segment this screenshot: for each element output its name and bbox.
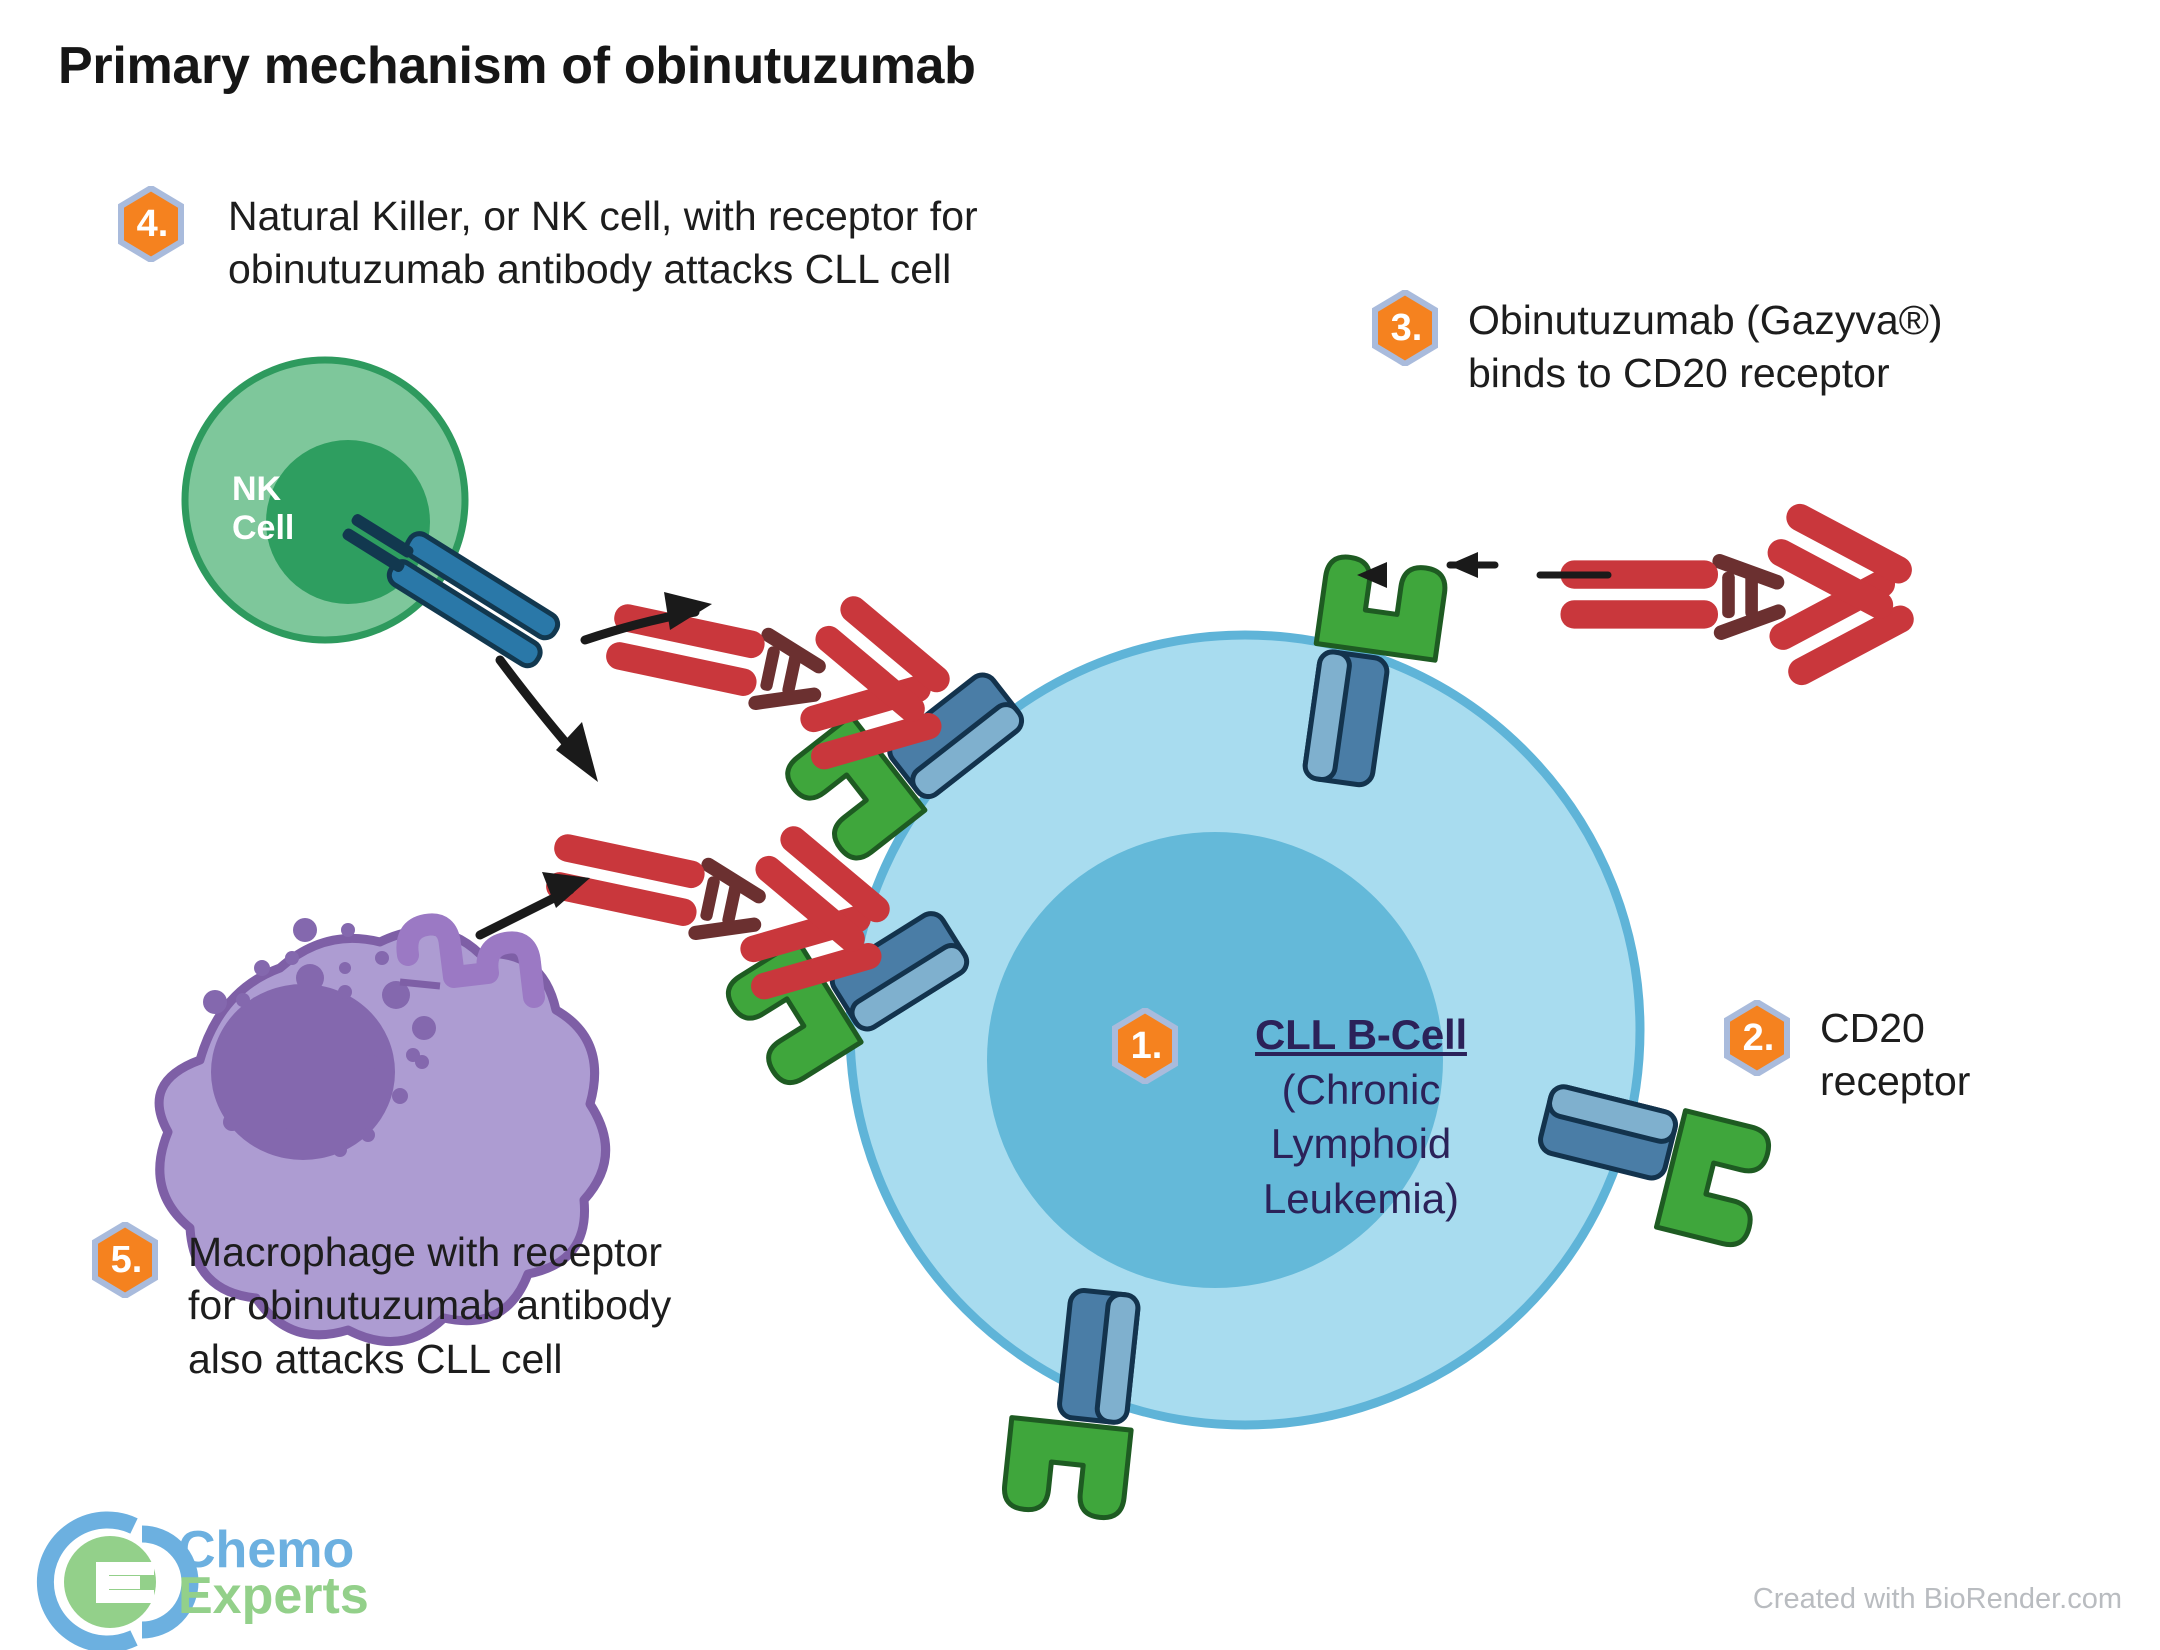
page-title: Primary mechanism of obinutuzumab — [58, 36, 976, 96]
step-badge-1[interactable]: 1. — [1112, 1008, 1178, 1084]
step-4-line-1: Natural Killer, or NK cell, with recepto… — [228, 190, 1298, 243]
step-number-5: 5. — [108, 1241, 143, 1279]
macrophage-attack-arrow — [480, 872, 590, 935]
chemoexperts-logo-icon — [45, 1520, 190, 1644]
step-2-line-1: CD20 — [1820, 1002, 2140, 1055]
step-text-3: Obinutuzumab (Gazyva®) binds to CD20 rec… — [1468, 294, 2160, 401]
step-5-line-1: Macrophage with receptor — [188, 1226, 888, 1279]
obinutuzumab-antibody-free — [1561, 499, 1919, 690]
nk-cell-label: NK Cell — [232, 470, 294, 548]
step-number-3: 3. — [1388, 309, 1423, 347]
nk-label-line-1: NK — [232, 470, 294, 509]
step-text-5: Macrophage with receptor for obinutuzuma… — [188, 1226, 888, 1386]
step-text-2: CD20 receptor — [1820, 1002, 2140, 1109]
cll-b-cell-heading: CLL B-Cell — [1196, 1008, 1526, 1063]
step-number-1: 1. — [1128, 1027, 1163, 1065]
nk-secondary-arrow — [500, 660, 598, 782]
biorender-credit: Created with BioRender.com — [1753, 1583, 2122, 1616]
step-badge-4[interactable]: 4. — [118, 186, 184, 262]
step-5-line-2: for obinutuzumab antibody — [188, 1279, 888, 1332]
step-4-line-2: obinutuzumab antibody attacks CLL cell — [228, 243, 1298, 296]
step-number-4: 4. — [134, 205, 169, 243]
cll-b-cell-label: CLL B-Cell (Chronic Lymphoid Leukemia) — [1196, 1008, 1526, 1226]
binding-arrow-head-1 — [1448, 552, 1478, 578]
step-badge-2[interactable]: 2. — [1724, 1000, 1790, 1076]
step-3-line-2: binds to CD20 receptor — [1468, 347, 2160, 400]
step-5-line-3: also attacks CLL cell — [188, 1333, 888, 1386]
diagram-canvas: Primary mechanism of obinutuzumab 4. Nat… — [0, 0, 2160, 1650]
step-number-2: 2. — [1740, 1019, 1775, 1057]
cll-line-2: Lymphoid — [1196, 1117, 1526, 1172]
cll-line-1: (Chronic — [1196, 1063, 1526, 1118]
step-2-line-2: receptor — [1820, 1055, 2140, 1108]
step-text-4: Natural Killer, or NK cell, with recepto… — [228, 190, 1298, 297]
nk-label-line-2: Cell — [232, 509, 294, 548]
cll-line-3: Leukemia) — [1196, 1172, 1526, 1227]
logo-word-experts: Experts — [178, 1574, 369, 1620]
step-badge-5[interactable]: 5. — [92, 1222, 158, 1298]
logo-wordmark: Chemo Experts — [178, 1528, 369, 1620]
step-badge-3[interactable]: 3. — [1372, 290, 1438, 366]
step-3-line-1: Obinutuzumab (Gazyva®) — [1468, 294, 2160, 347]
